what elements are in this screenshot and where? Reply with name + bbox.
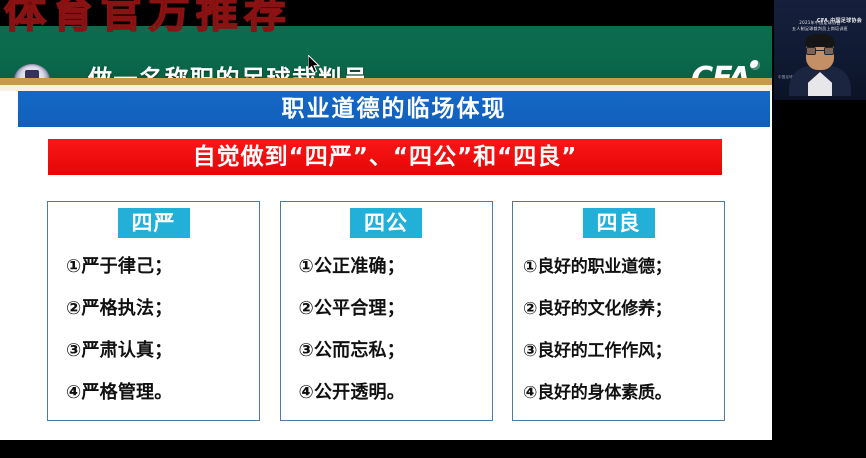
- soccer-ball-icon: [750, 60, 760, 70]
- column-chip-3-label: 四良: [597, 210, 641, 236]
- section-banner-blue-text: 职业道德的临场体现: [282, 94, 507, 124]
- section-banner-red: 自觉做到“四严”、“四公”和“四良”: [48, 139, 722, 175]
- video-pip-overlay[interactable]: CFA 中国足球协会 2021年中国足球协会 五人制足球裁判员上岗培训班 中国足…: [773, 0, 866, 100]
- letterbox-bottom: [0, 440, 866, 458]
- video-speaker-figure: [785, 34, 855, 96]
- slide-header-bar: 做一名称职的足球裁判员 CFA: [0, 26, 772, 78]
- column-chip-3: 四良: [583, 208, 655, 238]
- column-2-items: ①公正准确； ②公平合理； ③公而忘私； ④公开透明。: [281, 246, 492, 414]
- column-chip-1-label: 四严: [132, 210, 176, 236]
- presentation-slide: 体育官方推荐 做一名称职的足球裁判员 CFA 职业道德的临场体现 自觉做到“四严…: [0, 0, 772, 440]
- column-1-items: ①严于律己； ②严格执法； ③严肃认真； ④严格管理。: [48, 246, 259, 414]
- section-banner-blue: 职业道德的临场体现: [18, 91, 770, 127]
- list-item: ②严格执法；: [66, 288, 259, 330]
- column-chip-1: 四严: [118, 208, 190, 238]
- section-banner-red-text: 自觉做到“四严”、“四公”和“四良”: [193, 142, 578, 172]
- video-caption-line-2: 五人制足球裁判员上岗培训班: [782, 26, 858, 32]
- list-item: ③公而忘私；: [299, 330, 492, 372]
- list-item: ②公平合理；: [299, 288, 492, 330]
- list-item: ④严格管理。: [66, 372, 259, 414]
- column-3-items: ①良好的职业道德； ②良好的文化修养； ③良好的工作作风； ④良好的身体素质。: [513, 246, 724, 414]
- list-item: ④良好的身体素质。: [523, 372, 724, 414]
- list-item: ③严肃认真；: [66, 330, 259, 372]
- list-item: ③良好的工作作风；: [523, 330, 724, 372]
- list-item: ②良好的文化修养；: [523, 288, 724, 330]
- header-gold-rule: [0, 78, 772, 85]
- speaker-glasses-icon: [806, 47, 834, 55]
- speaker-hair: [805, 34, 835, 47]
- watermark-band: 体育官方推荐: [0, 0, 772, 26]
- video-caption: 2021年中国足球协会 五人制足球裁判员上岗培训班: [782, 20, 858, 32]
- column-box-3: 四良 ①良好的职业道德； ②良好的文化修养； ③良好的工作作风； ④良好的身体素…: [512, 201, 725, 421]
- column-chip-2: 四公: [350, 208, 422, 238]
- column-box-2: 四公 ①公正准确； ②公平合理； ③公而忘私； ④公开透明。: [280, 201, 493, 421]
- content-columns: 四严 ①严于律己； ②严格执法； ③严肃认真； ④严格管理。 四公 ①公正准确；…: [47, 201, 725, 421]
- list-item: ④公开透明。: [299, 372, 492, 414]
- list-item: ①良好的职业道德；: [523, 246, 724, 288]
- column-box-1: 四严 ①严于律己； ②严格执法； ③严肃认真； ④严格管理。: [47, 201, 260, 421]
- screen-root: 体育官方推荐 做一名称职的足球裁判员 CFA 职业道德的临场体现 自觉做到“四严…: [0, 0, 866, 458]
- list-item: ①严于律己；: [66, 246, 259, 288]
- column-chip-2-label: 四公: [364, 210, 408, 236]
- watermark-text: 体育官方推荐: [4, 0, 292, 26]
- list-item: ①公正准确；: [299, 246, 492, 288]
